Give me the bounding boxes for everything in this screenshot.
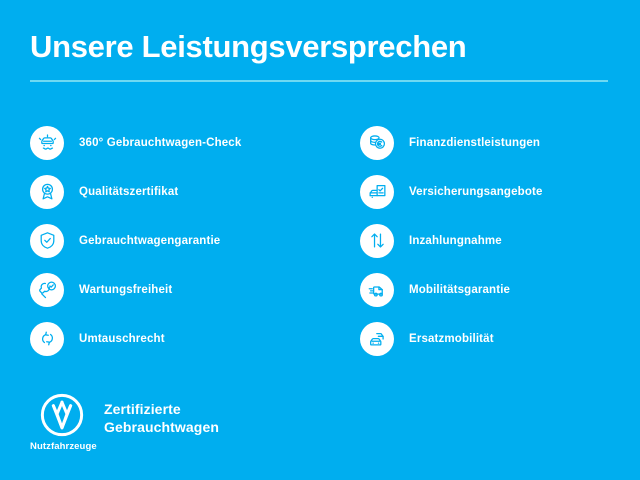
coins-euro-icon — [360, 126, 394, 160]
two-cars-icon — [360, 322, 394, 356]
brand-footer: Nutzfahrzeuge Zertifizierte Gebrauchtwag… — [30, 392, 219, 452]
van-motion-icon — [360, 273, 394, 307]
brand-headline-line2: Gebrauchtwagen — [104, 418, 219, 436]
promise-label: Qualitätszertifikat — [79, 186, 178, 198]
brand-mark: Nutzfahrzeuge — [30, 392, 94, 452]
promise-label: Umtauschrecht — [79, 333, 165, 345]
brand-headline: Zertifizierte Gebrauchtwagen — [104, 400, 219, 436]
promises-slide: Unsere Leistungsversprechen 360° Gebrauc — [0, 0, 640, 480]
car-inspection-icon — [30, 126, 64, 160]
promises-column-right: Finanzdienstleistungen Versicherungsange… — [360, 118, 630, 363]
up-down-arrows-icon — [360, 224, 394, 258]
promise-item-qualitaetszertifikat: Qualitätszertifikat — [30, 167, 330, 216]
header: Unsere Leistungsversprechen — [30, 28, 608, 82]
promise-label: Inzahlungnahme — [409, 235, 502, 247]
award-rosette-icon — [30, 175, 64, 209]
exchange-arrows-icon — [30, 322, 64, 356]
promises-column-left: 360° Gebrauchtwagen-Check Qualitätszerti… — [30, 118, 330, 363]
wrench-check-icon — [30, 273, 64, 307]
brand-sublabel: Nutzfahrzeuge — [30, 441, 94, 452]
promise-item-gebrauchtwagen-check: 360° Gebrauchtwagen-Check — [30, 118, 330, 167]
title-divider — [30, 80, 608, 82]
page-title: Unsere Leistungsversprechen — [30, 28, 608, 66]
shield-check-icon — [30, 224, 64, 258]
promise-item-wartungsfreiheit: Wartungsfreiheit — [30, 265, 330, 314]
promise-item-umtauschrecht: Umtauschrecht — [30, 314, 330, 363]
brand-headline-line1: Zertifizierte — [104, 400, 219, 418]
promise-item-ersatzmobilitaet: Ersatzmobilität — [360, 314, 630, 363]
promise-label: Wartungsfreiheit — [79, 284, 172, 296]
promise-item-mobilitaetsgarantie: Mobilitätsgarantie — [360, 265, 630, 314]
promise-label: Versicherungsangebote — [409, 186, 543, 198]
car-document-check-icon — [360, 175, 394, 209]
promise-label: 360° Gebrauchtwagen-Check — [79, 137, 241, 149]
promise-item-gebrauchtwagengarantie: Gebrauchtwagengarantie — [30, 216, 330, 265]
vw-logo — [39, 392, 85, 438]
promise-label: Gebrauchtwagengarantie — [79, 235, 220, 247]
promise-item-finanzdienstleistungen: Finanzdienstleistungen — [360, 118, 630, 167]
promise-item-versicherungsangebote: Versicherungsangebote — [360, 167, 630, 216]
promise-label: Mobilitätsgarantie — [409, 284, 510, 296]
promise-item-inzahlungnahme: Inzahlungnahme — [360, 216, 630, 265]
promise-label: Finanzdienstleistungen — [409, 137, 540, 149]
promise-label: Ersatzmobilität — [409, 333, 494, 345]
